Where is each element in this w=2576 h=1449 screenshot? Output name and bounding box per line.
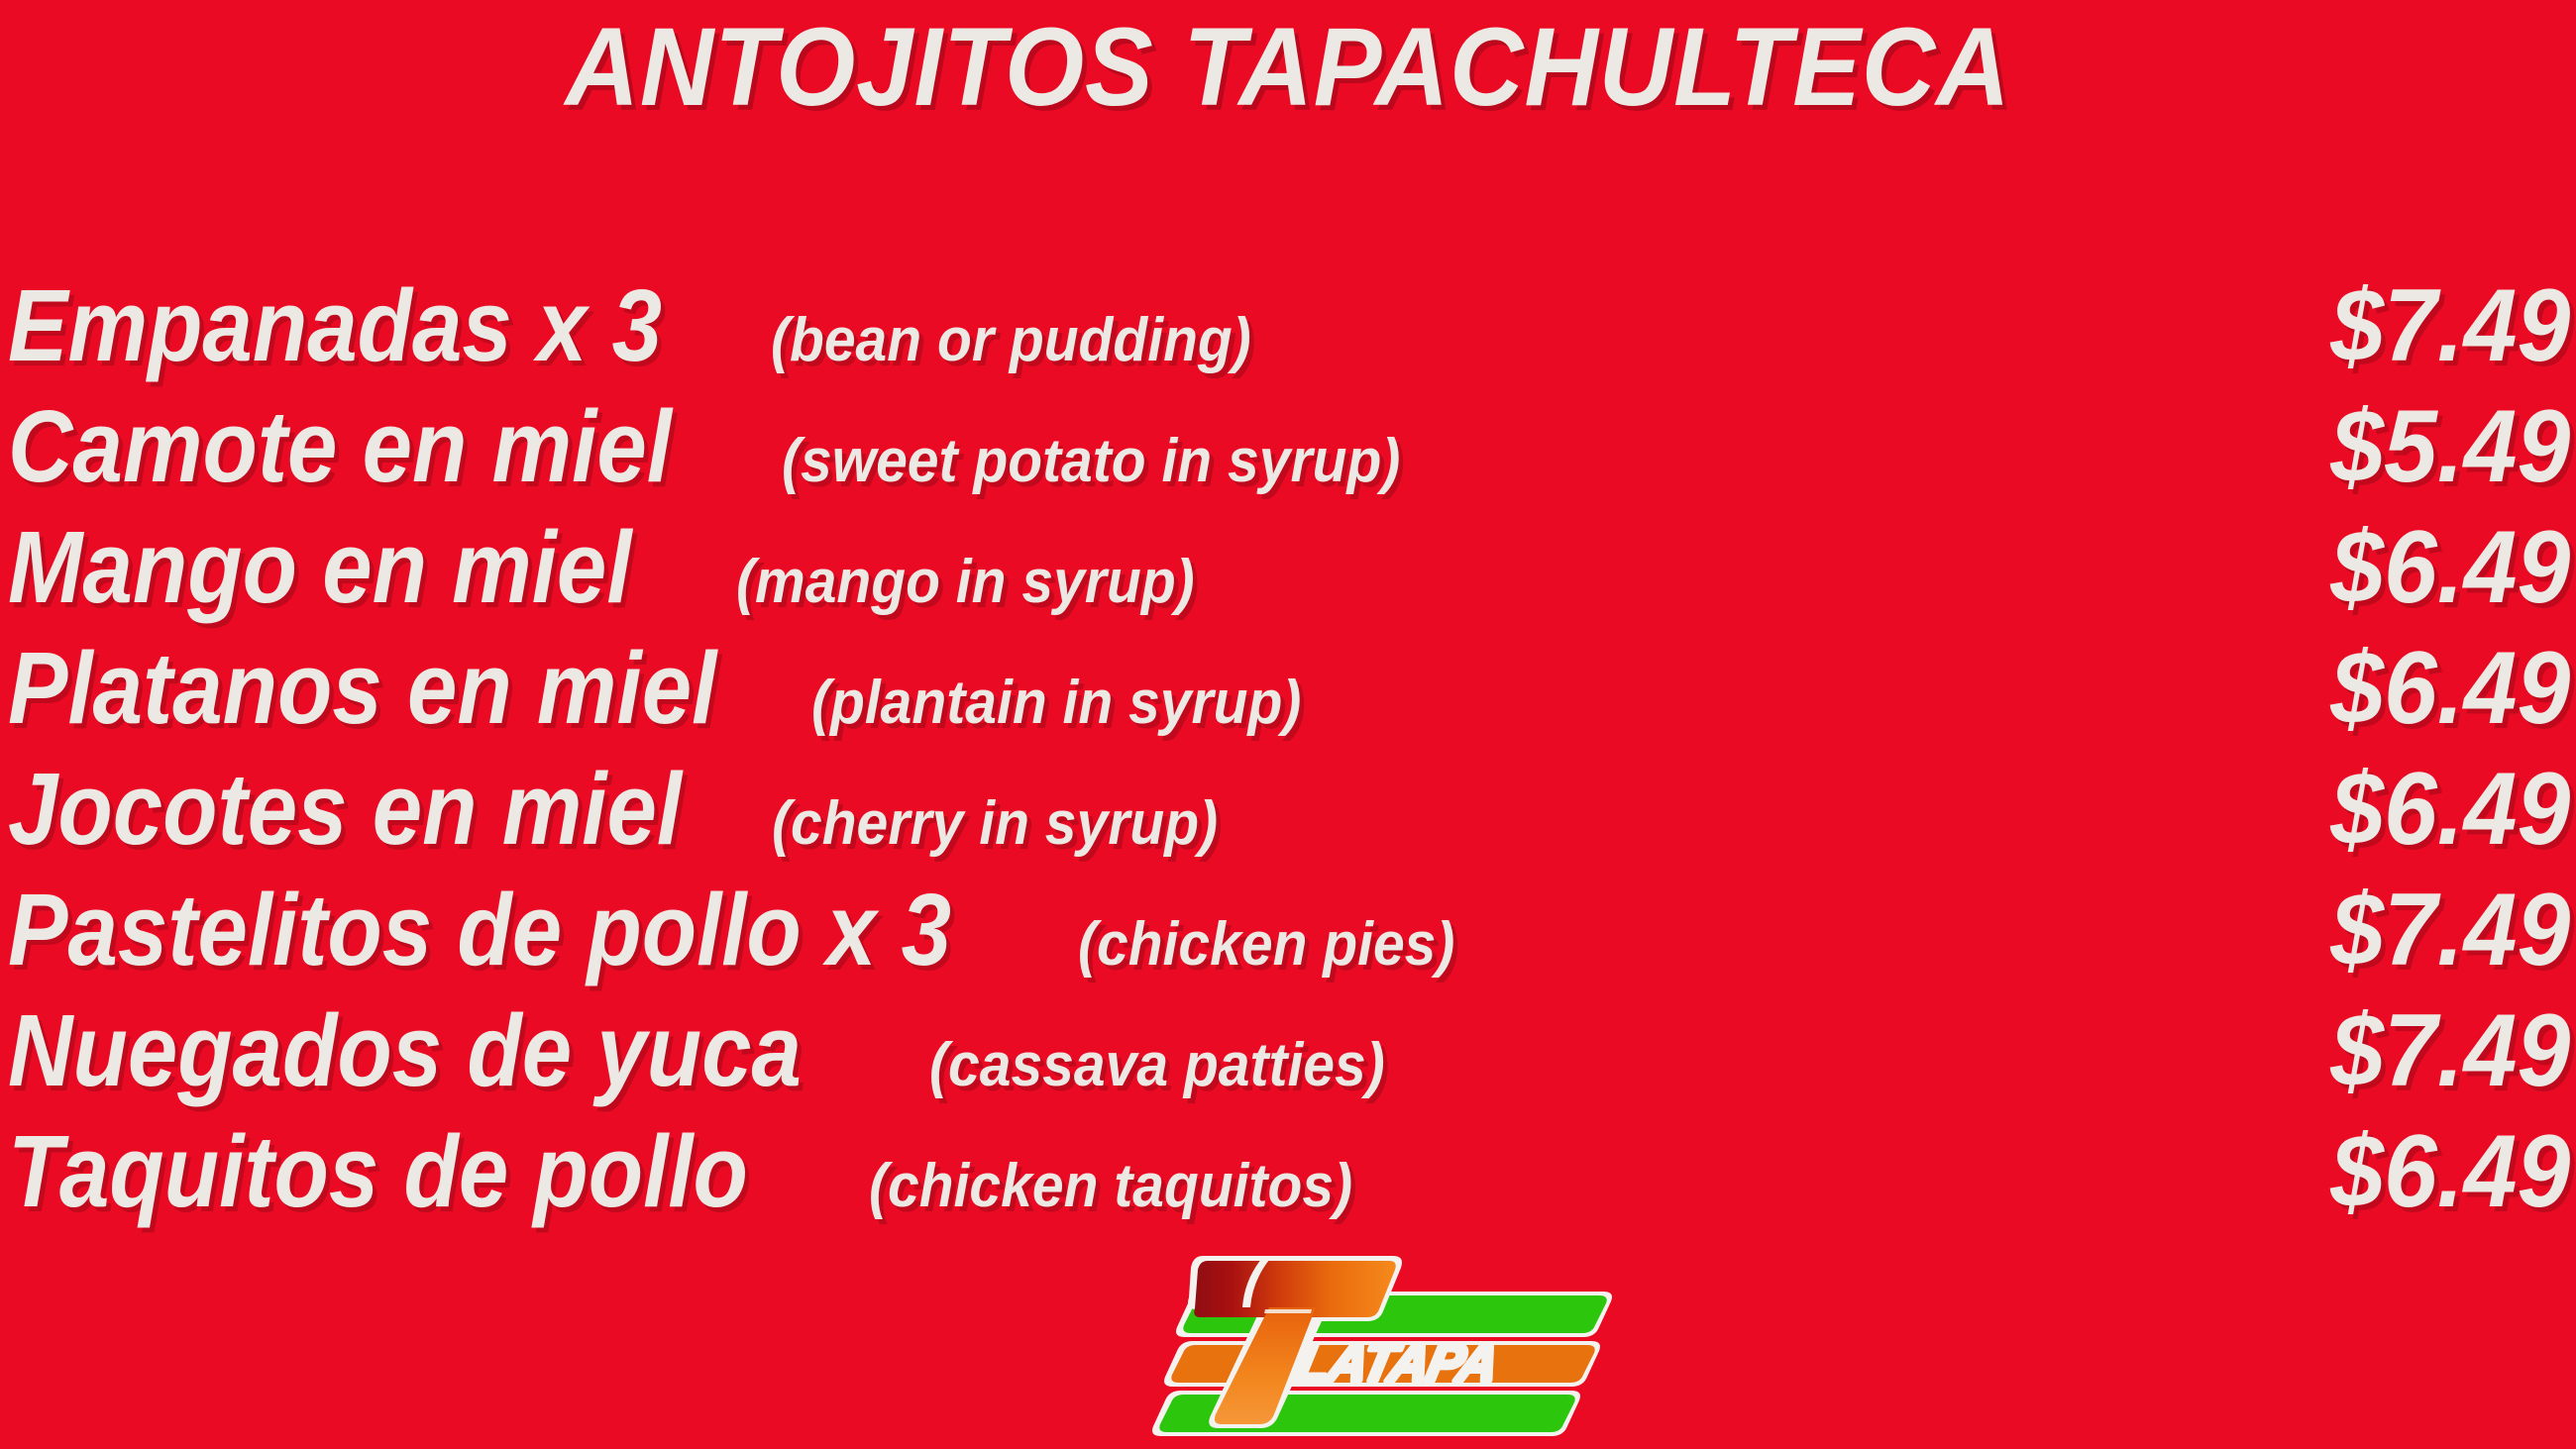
logo-wordmark-group: LATAPA LATAPA [1291,1333,1503,1393]
tlatapa-logo: LATAPA LATAPA [1167,1250,1623,1444]
menu-board: ANTOJITOS TAPACHULTECA Empanadas x 3(bea… [0,0,2576,1449]
menu-row: Empanadas x 3(bean or pudding)$7.49 [0,265,2576,386]
menu-item-description: (cassava patties) [929,1005,1385,1126]
menu-row: Jocotes en miel(cherry in syrup)$6.49 [0,749,2576,870]
menu-item-price: $7.49 [2330,265,2570,386]
menu-row: Pastelitos de pollo x 3(chicken pies)$7.… [0,870,2576,990]
menu-item-name: Pastelitos de pollo x 3 [8,870,951,990]
menu-item-price: $6.49 [2330,628,2570,749]
menu-item-price: $5.49 [2330,386,2570,507]
menu-item-price: $6.49 [2330,1111,2570,1232]
menu-item-name: Empanadas x 3 [8,265,662,386]
menu-item-description: (chicken taquitos) [869,1126,1352,1247]
menu-item-name: Camote en miel [8,386,672,507]
menu-item-description: (cherry in syrup) [772,764,1218,884]
menu-item-name: Mango en miel [8,507,632,628]
menu-item-name: Jocotes en miel [8,749,682,870]
menu-item-list: Empanadas x 3(bean or pudding)$7.49Camot… [0,265,2576,1232]
menu-item-price: $6.49 [2330,749,2570,870]
logo-wordmark-text: LATAPA [1291,1333,1503,1393]
menu-row: Platanos en miel(plantain in syrup)$6.49 [0,628,2576,749]
menu-item-description: (plantain in syrup) [811,643,1301,764]
menu-item-description: (sweet potato in syrup) [782,401,1400,522]
menu-row: Nuegados de yuca(cassava patties)$7.49 [0,990,2576,1111]
menu-item-name: Taquitos de pollo [8,1111,748,1232]
menu-row: Mango en miel(mango in syrup)$6.49 [0,507,2576,628]
menu-item-name: Nuegados de yuca [8,990,802,1111]
menu-item-description: (bean or pudding) [771,280,1251,401]
menu-row: Taquitos de pollo(chicken taquitos)$6.49 [0,1111,2576,1232]
menu-item-price: $7.49 [2330,990,2570,1111]
menu-item-description: (mango in syrup) [736,522,1195,643]
menu-item-price: $6.49 [2330,507,2570,628]
menu-item-left: Taquitos de pollo(chicken taquitos) [8,1111,1394,1263]
menu-item-description: (chicken pies) [1078,884,1454,1005]
page-title: ANTOJITOS TAPACHULTECA [103,12,2473,123]
menu-item-name: Platanos en miel [8,628,716,749]
menu-row: Camote en miel(sweet potato in syrup)$5.… [0,386,2576,507]
menu-item-price: $7.49 [2330,870,2570,990]
